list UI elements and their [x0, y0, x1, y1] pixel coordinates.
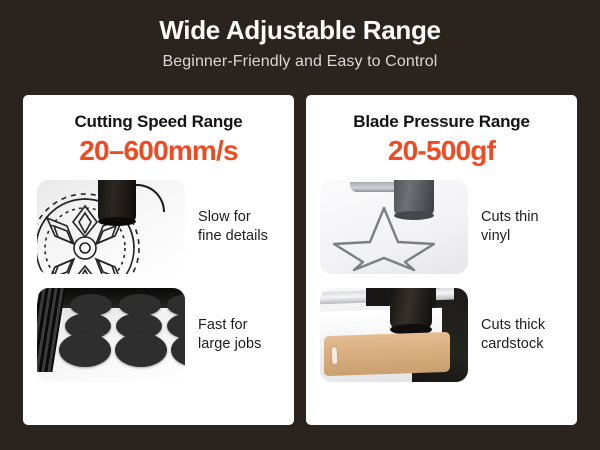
- card-container: Cutting Speed Range 20–600mm/s: [23, 95, 577, 425]
- list-item: Cuts thick cardstock: [320, 288, 563, 382]
- list-item-label: Cuts thick cardstock: [481, 316, 545, 354]
- blade-housing: [98, 180, 136, 222]
- list-item-label: Fast for large jobs: [198, 316, 261, 354]
- list-item: Slow for fine details: [37, 180, 280, 274]
- list-item-label: Slow for fine details: [198, 208, 268, 246]
- card-title: Blade Pressure Range: [320, 111, 563, 133]
- circles-cut-photo: [37, 288, 185, 382]
- page-subtitle: Beginner-Friendly and Easy to Control: [0, 52, 600, 72]
- blade-housing: [390, 288, 432, 330]
- cardstock-sheet: [324, 332, 450, 376]
- list-item: Cuts thin vinyl: [320, 180, 563, 274]
- card-blade-pressure: Blade Pressure Range 20-500gf Cuts thin …: [306, 95, 577, 425]
- mandala-cut-photo: [37, 180, 185, 274]
- machine-left-edge: [37, 288, 66, 372]
- cardstock-cut-slot: [331, 346, 339, 366]
- card-title: Cutting Speed Range: [37, 111, 280, 133]
- card-rows: Slow for fine details: [37, 180, 280, 382]
- card-cutting-speed: Cutting Speed Range 20–600mm/s: [23, 95, 294, 425]
- cardstock-cut-photo: [320, 288, 468, 382]
- cut-circle: [59, 333, 111, 367]
- cutter-arm: [131, 184, 165, 212]
- card-value: 20-500gf: [320, 134, 563, 168]
- page-title: Wide Adjustable Range: [0, 14, 600, 46]
- card-rows: Cuts thin vinyl Cuts thick cardstock: [320, 180, 563, 382]
- card-value: 20–600mm/s: [37, 134, 280, 168]
- header: Wide Adjustable Range Beginner-Friendly …: [0, 14, 600, 72]
- cut-circle: [171, 333, 185, 367]
- list-item-label: Cuts thin vinyl: [481, 208, 539, 246]
- star-artwork-icon: [332, 202, 436, 274]
- promo-banner: Wide Adjustable Range Beginner-Friendly …: [0, 0, 600, 450]
- cut-circle: [115, 333, 167, 367]
- list-item: Fast for large jobs: [37, 288, 280, 382]
- star-cut-vinyl-photo: [320, 180, 468, 274]
